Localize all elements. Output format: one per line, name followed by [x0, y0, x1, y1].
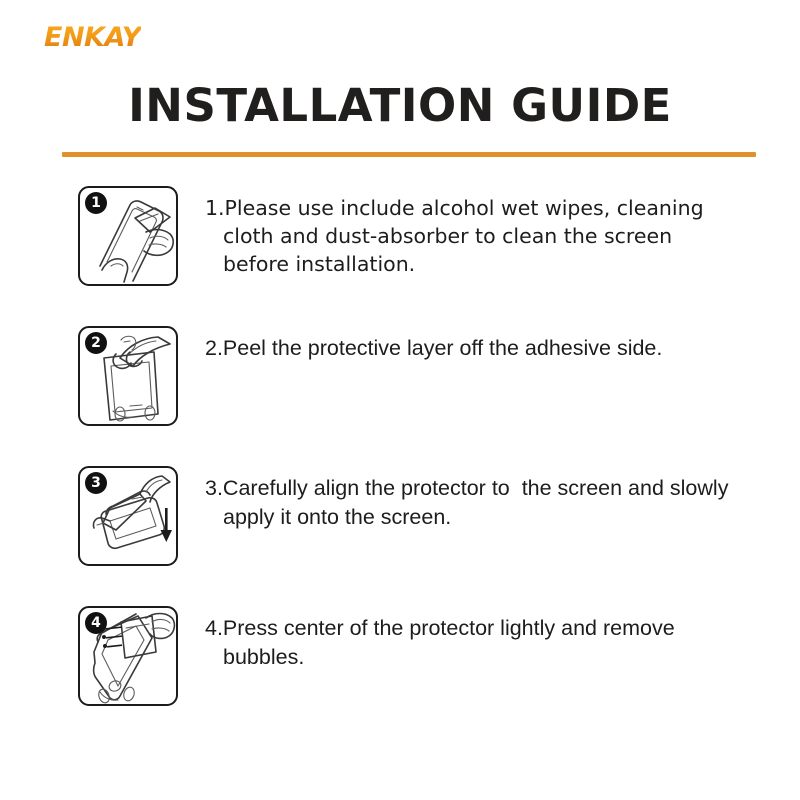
steps-list: 1 1.Please use include alcohol we [0, 186, 800, 746]
list-item: 4 [0, 606, 800, 746]
step-1-text: 1.Please use include alcohol wet wipes, … [205, 186, 740, 278]
step-4-illustration: 4 [78, 606, 178, 706]
step-number-badge: 1 [85, 192, 107, 214]
step-2-illustration: 2 [78, 326, 178, 426]
step-3-text: 3.Carefully align the protector to the s… [205, 466, 740, 532]
step-1-illustration: 1 [78, 186, 178, 286]
list-item: 2 2.Peel the protective layer off [0, 326, 800, 466]
list-item: 3 3.Careful [0, 466, 800, 606]
step-number-badge: 3 [85, 472, 107, 494]
step-4-text: 4.Press center of the protector lightly … [205, 606, 740, 672]
list-item: 1 1.Please use include alcohol we [0, 186, 800, 326]
step-2-text: 2.Peel the protective layer off the adhe… [205, 326, 740, 363]
step-number-badge: 2 [85, 332, 107, 354]
step-number-badge: 4 [85, 612, 107, 634]
down-arrow-icon [161, 508, 173, 542]
page-title: INSTALLATION GUIDE [0, 82, 800, 129]
brand-logo: ENKAY [44, 24, 141, 51]
title-divider [62, 152, 756, 157]
step-3-illustration: 3 [78, 466, 178, 566]
